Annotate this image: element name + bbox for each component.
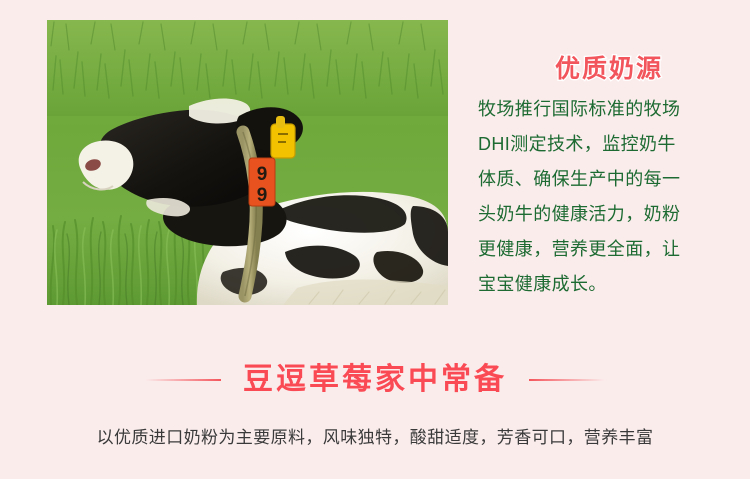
product-detail-page: 9 9 优质奶源 牧场推行国际标准的牧场 DHI测定技术，监控奶牛 (0, 0, 750, 479)
headline-row: 豆逗草莓家中常备 (0, 362, 750, 398)
milk-source-section: 9 9 优质奶源 牧场推行国际标准的牧场 DHI测定技术，监控奶牛 (0, 0, 750, 330)
section-title: 优质奶源 (478, 52, 740, 86)
body-line: 宝宝健康成长。 (478, 267, 740, 302)
cow-pasture-photo: 9 9 (47, 20, 448, 305)
household-staple-section: 豆逗草莓家中常备 以优质进口奶粉为主要原料，风味独特，酸甜适度，芳香可口，营养丰… (0, 330, 750, 479)
bottom-headline: 豆逗草莓家中常备 (243, 362, 507, 398)
body-line: 体质、确保生产中的每一 (478, 162, 740, 197)
cow-photo-illustration: 9 9 (47, 20, 448, 305)
collar-tag: 9 9 (249, 158, 275, 206)
svg-text:9: 9 (257, 185, 268, 206)
body-line: 牧场推行国际标准的牧场 (478, 92, 740, 127)
decorative-rule-left (145, 379, 221, 381)
body-line: DHI测定技术，监控奶牛 (478, 127, 740, 162)
svg-text:9: 9 (257, 164, 268, 185)
body-line: 更健康，营养更全面，让 (478, 232, 740, 267)
body-line: 头奶牛的健康活力，奶粉 (478, 197, 740, 232)
milk-source-info: 优质奶源 牧场推行国际标准的牧场 DHI测定技术，监控奶牛 体质、确保生产中的每… (478, 52, 740, 302)
section-body: 牧场推行国际标准的牧场 DHI测定技术，监控奶牛 体质、确保生产中的每一 头奶牛… (478, 92, 740, 302)
decorative-rule-right (529, 379, 605, 381)
bottom-subline: 以优质进口奶粉为主要原料，风味独特，酸甜适度，芳香可口，营养丰富 (0, 426, 750, 450)
